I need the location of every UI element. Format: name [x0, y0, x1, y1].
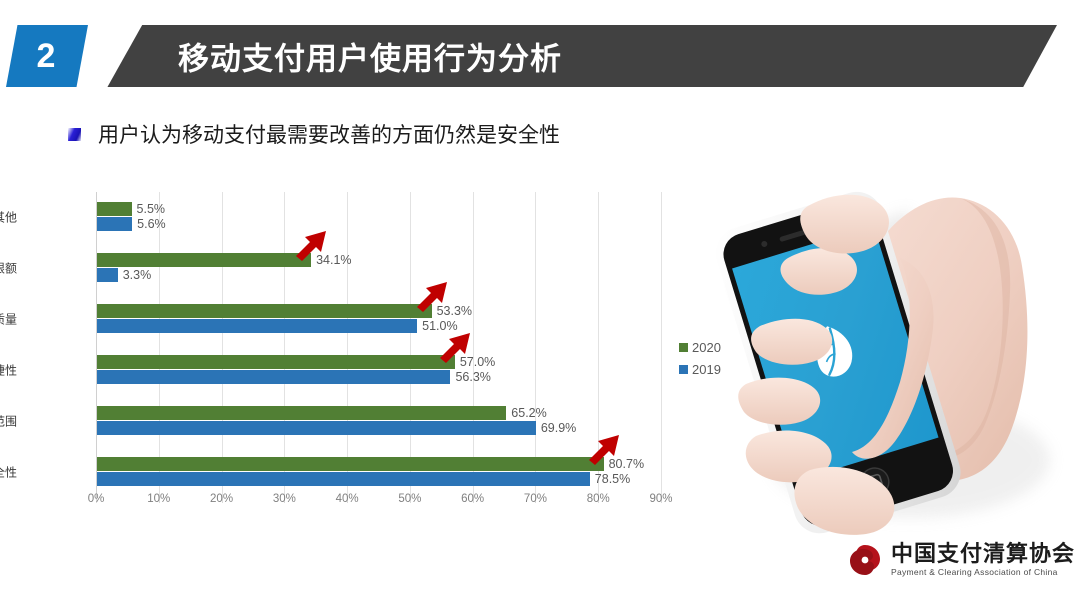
chart-xtick-label: 70%	[524, 493, 547, 505]
chart-value-label: 5.5%	[137, 202, 166, 216]
chart-xtick-label: 40%	[336, 493, 359, 505]
chart-xtick-label: 0%	[88, 493, 105, 505]
chart-xtick-label: 80%	[587, 493, 610, 505]
chart-xtick-label: 10%	[147, 493, 170, 505]
bar-chart: 5.5%5.6%34.1%3.3%53.3%51.0%57.0%56.3%65.…	[25, 180, 725, 530]
chart-gridline	[159, 192, 160, 497]
chart-bar	[97, 304, 432, 318]
chart-gridline	[410, 192, 411, 497]
chart-value-label: 65.2%	[511, 406, 546, 420]
chart-value-label: 5.6%	[137, 217, 166, 231]
logo-name-en: Payment & Clearing Association of China	[891, 567, 1075, 577]
chart-bar	[97, 421, 536, 435]
slide-canvas: 2 移动支付用户使用行为分析 用户认为移动支付最需要改善的方面仍然是安全性 5.…	[0, 0, 1080, 607]
subtitle-text: 用户认为移动支付最需要改善的方面仍然是安全性	[98, 119, 560, 149]
slide-header: 2 移动支付用户使用行为分析	[0, 25, 1080, 87]
chart-bar	[97, 268, 118, 282]
chart-gridline	[284, 192, 285, 497]
chart-bar	[97, 253, 311, 267]
chart-bar	[97, 319, 417, 333]
chart-value-label: 3.3%	[123, 268, 152, 282]
chart-category-label: 服务质量	[0, 311, 17, 328]
chart-gridline	[347, 192, 348, 497]
chart-bar	[97, 457, 604, 471]
title-banner: 移动支付用户使用行为分析	[92, 25, 1057, 87]
chart-value-label: 69.9%	[541, 421, 576, 435]
chart-bar	[97, 217, 132, 231]
section-number-badge: 2	[6, 25, 88, 87]
chart-category-label: 支付限额	[0, 260, 17, 277]
chart-category-label: 安全性	[0, 463, 17, 480]
chart-bar	[97, 406, 506, 420]
chart-gridline	[535, 192, 536, 497]
chart-bar	[97, 370, 450, 384]
chart-value-label: 56.3%	[455, 370, 490, 384]
subtitle-row: 用户认为移动支付最需要改善的方面仍然是安全性	[68, 119, 560, 149]
pcac-logo-icon	[848, 543, 882, 577]
hand-holding-phone-image	[660, 140, 1080, 540]
chart-plot-area: 5.5%5.6%34.1%3.3%53.3%51.0%57.0%56.3%65.…	[96, 192, 661, 497]
chart-bar	[97, 355, 455, 369]
chart-xtick-label: 50%	[398, 493, 421, 505]
chart-bar	[97, 472, 590, 486]
logo-name-cn: 中国支付清算协会	[891, 542, 1075, 565]
up-right-arrow-icon	[292, 223, 334, 265]
chart-gridline	[96, 192, 97, 497]
square-bullet-icon	[68, 128, 81, 141]
section-number: 2	[37, 37, 56, 76]
chart-xtick-label: 60%	[461, 493, 484, 505]
chart-value-label: 78.5%	[595, 472, 630, 486]
chart-gridline	[222, 192, 223, 497]
logo-text-block: 中国支付清算协会 Payment & Clearing Association …	[891, 542, 1075, 577]
chart-xtick-label: 20%	[210, 493, 233, 505]
page-title: 移动支付用户使用行为分析	[178, 34, 562, 79]
chart-category-label: 其他	[0, 209, 17, 226]
chart-category-label: 应用范围	[0, 412, 17, 429]
chart-bar	[97, 202, 132, 216]
up-right-arrow-icon	[413, 274, 455, 316]
up-right-arrow-icon	[585, 427, 627, 469]
chart-xtick-label: 30%	[273, 493, 296, 505]
up-right-arrow-icon	[436, 325, 478, 367]
organization-logo: 中国支付清算协会 Payment & Clearing Association …	[848, 542, 1075, 577]
chart-category-label: 便捷性	[0, 361, 17, 378]
